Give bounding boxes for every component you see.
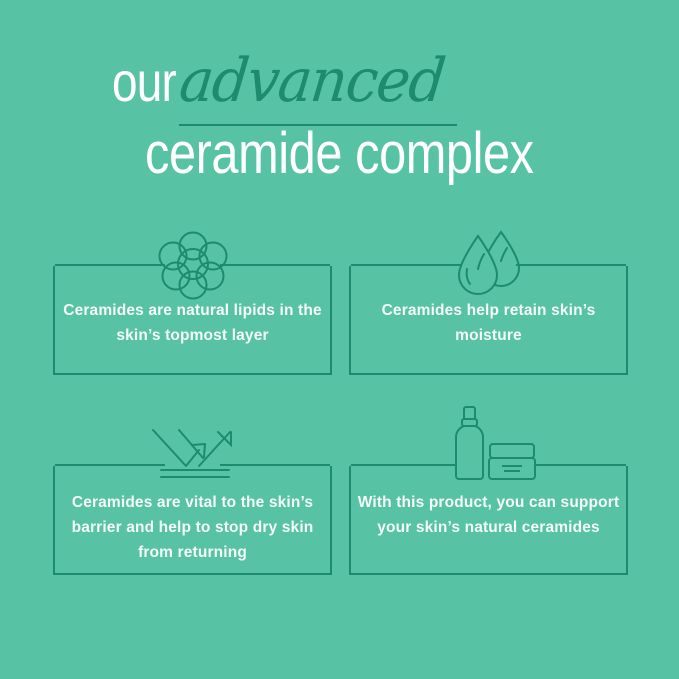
water-droplets-icon bbox=[452, 228, 526, 305]
card-text: Ceramides are vital to the skin’s barrie… bbox=[53, 490, 332, 565]
heading-word-advanced-wrap: advanced bbox=[173, 48, 451, 130]
card-text: Ceramides help retain skin’s moisture bbox=[349, 298, 628, 348]
info-card-ceramides-natural-lipids: Ceramides are natural lipids in the skin… bbox=[53, 226, 332, 375]
page-title: ouradvanced ceramide complex bbox=[0, 48, 679, 187]
info-card-ceramides-retain-moisture: Ceramides help retain skin’s moisture bbox=[349, 226, 628, 375]
heading-word-advanced: advanced bbox=[177, 48, 448, 114]
bottle-and-jar-icon bbox=[440, 405, 538, 488]
barrier-arrows-icon bbox=[143, 424, 243, 489]
heading-word-our: our bbox=[112, 49, 176, 115]
info-card-ceramides-skin-barrier: Ceramides are vital to the skin’s barrie… bbox=[53, 418, 332, 575]
heading-line-2: ceramide complex bbox=[0, 120, 679, 187]
info-card-product-supports-ceramides: With this product, you can support your … bbox=[349, 405, 628, 575]
heading-line-1: ouradvanced bbox=[0, 48, 679, 114]
flower-cells-icon bbox=[151, 226, 235, 307]
card-text: With this product, you can support your … bbox=[349, 490, 628, 540]
